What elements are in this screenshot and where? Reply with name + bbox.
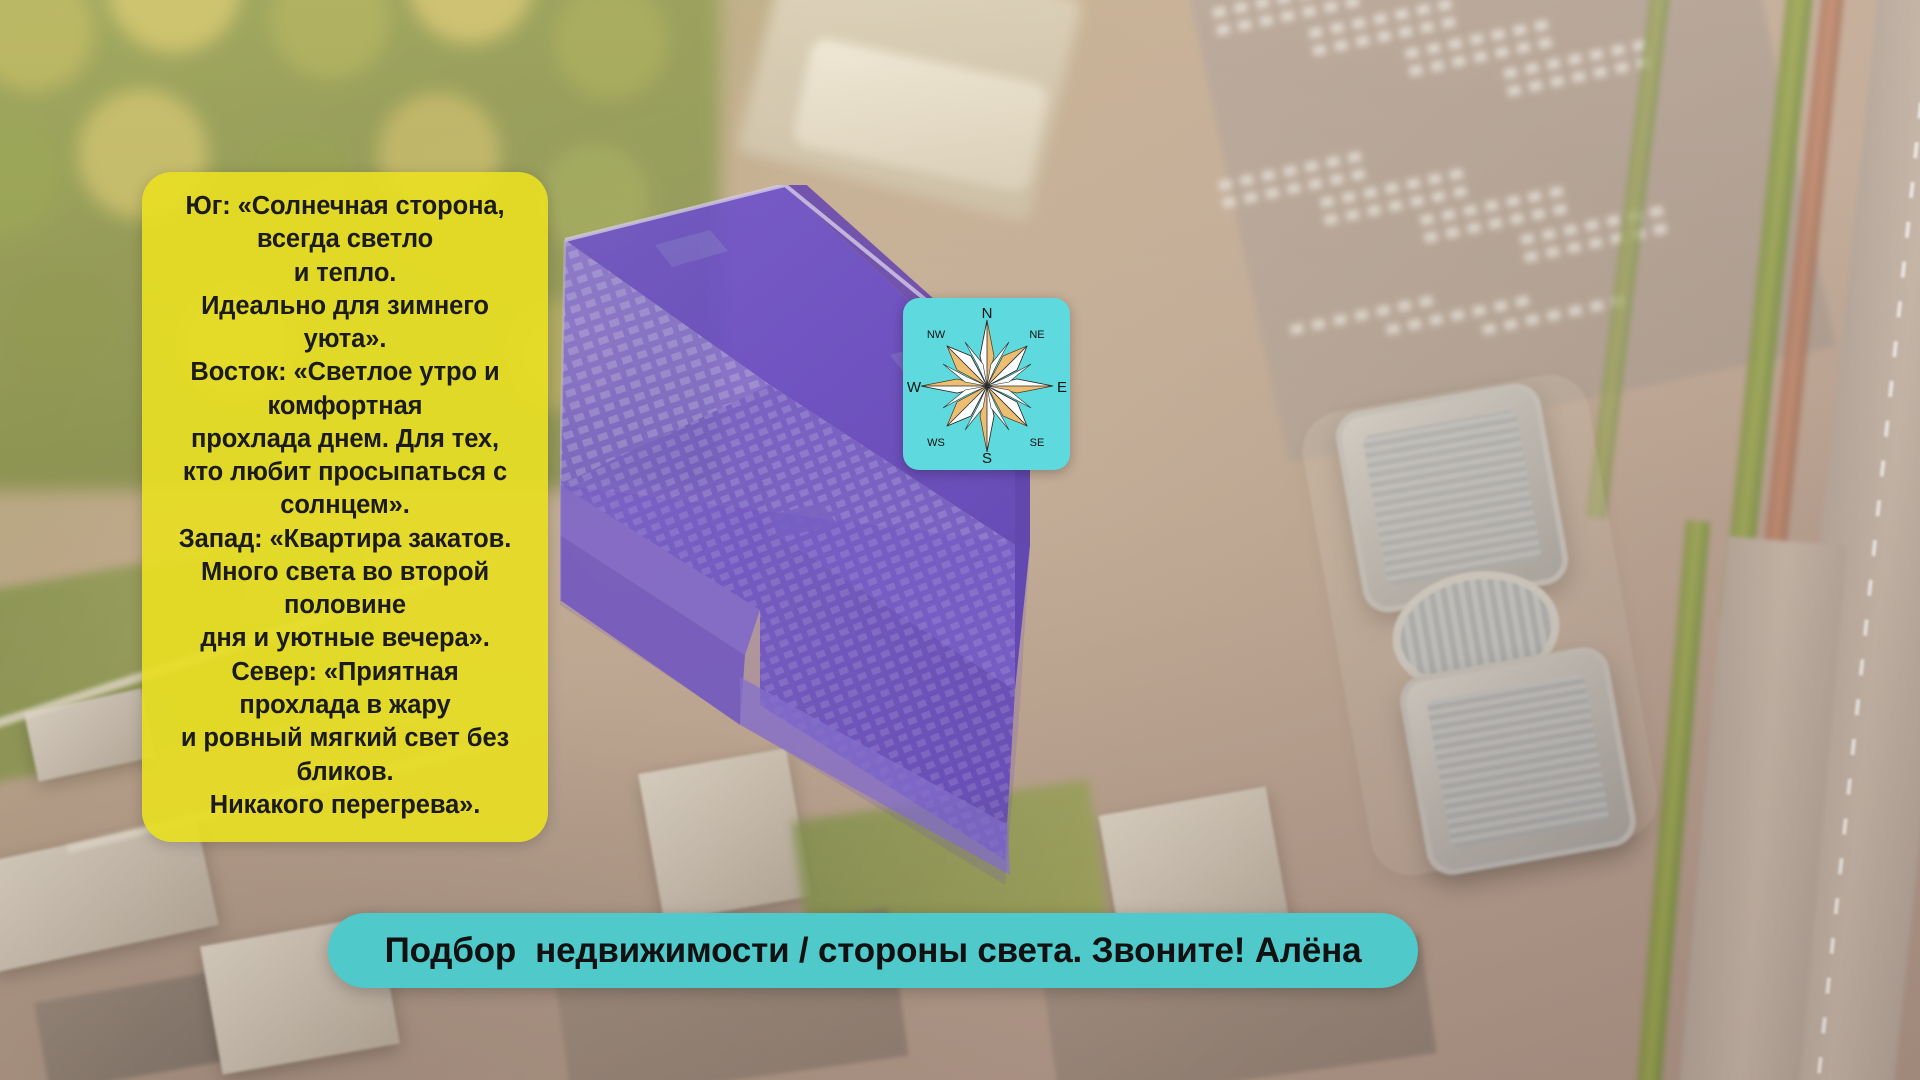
contact-banner-text: Подбор недвижимости / стороны света. Зво… xyxy=(385,931,1362,971)
poster-canvas: Юг: «Солнечная сторона, всегда светло и … xyxy=(0,0,1920,1080)
compass-label-south-east: SE xyxy=(1030,437,1045,449)
compass-label-north-east: NE xyxy=(1029,329,1044,341)
compass-label-west: W xyxy=(907,379,922,396)
compass-label-east: E xyxy=(1057,379,1067,396)
contact-banner[interactable]: Подбор недвижимости / стороны света. Зво… xyxy=(328,913,1418,988)
low-building-5 xyxy=(638,748,812,922)
compass-label-north-west: NW xyxy=(927,329,946,341)
compass-label-south: S xyxy=(982,450,992,467)
compass-label-north: N xyxy=(982,305,993,322)
compass-label-south-west: WS xyxy=(927,437,945,449)
compass-rose-card: N E S W NW NE WS SE xyxy=(903,298,1070,470)
orientation-description-card: Юг: «Солнечная сторона, всегда светло и … xyxy=(142,172,548,842)
